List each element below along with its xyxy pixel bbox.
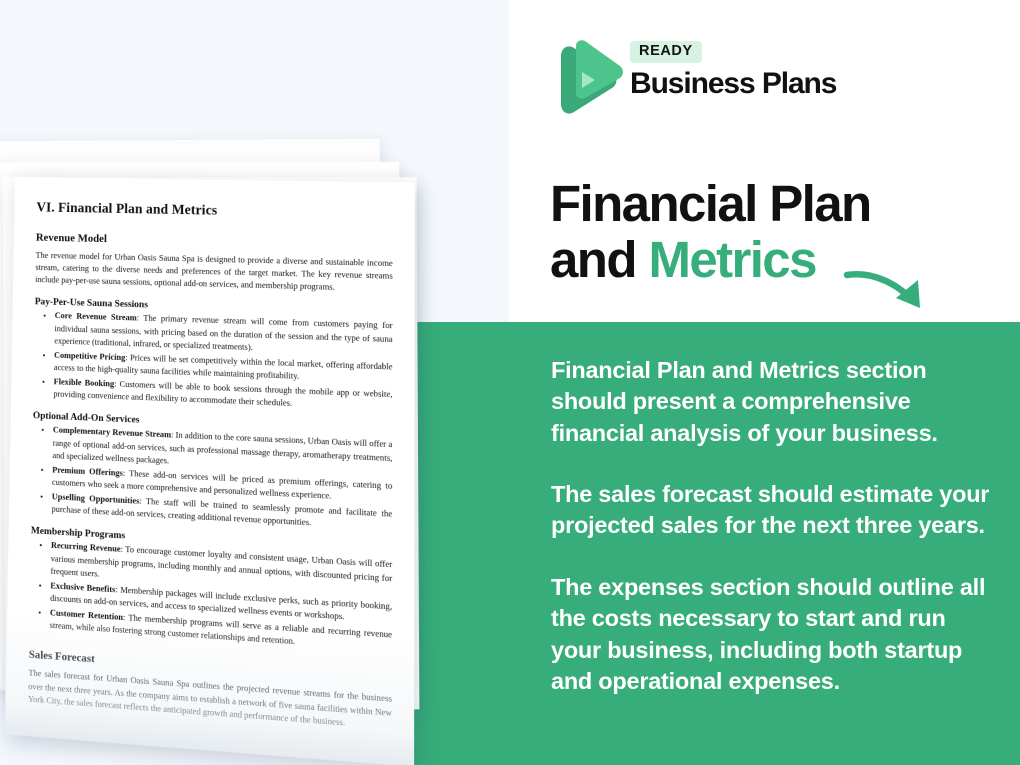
paragraph-revenue-model: The revenue model for Urban Oasis Sauna … — [35, 250, 393, 296]
heading-revenue-model: Revenue Model — [36, 233, 393, 252]
slide-canvas: V V Re The inc stre Pay Op M VI. Financi… — [0, 0, 1020, 765]
list-pay-per-use: Core Revenue Stream: The primary revenue… — [33, 310, 393, 415]
play-triangle-logo-icon — [549, 36, 625, 114]
ready-badge: READY — [630, 41, 702, 63]
title-line-2-plain: and — [550, 231, 648, 288]
copy-paragraph-1: Financial Plan and Metrics section shoul… — [551, 355, 1001, 449]
brand-logo[interactable]: READY Business Plans — [549, 36, 839, 114]
bullet-term: Flexible Booking — [54, 377, 115, 389]
document-page-stack: V V Re The inc stre Pay Op M VI. Financi… — [0, 120, 500, 740]
bullet-term: Upselling Opportunities — [52, 492, 140, 506]
document-sheet-front: VI. Financial Plan and Metrics Revenue M… — [5, 177, 415, 765]
bullet-term: Competitive Pricing — [54, 350, 125, 362]
body-copy: Financial Plan and Metrics section shoul… — [551, 355, 1001, 697]
page-title: Financial Plan and Metrics — [550, 176, 1010, 287]
bullet-term: Premium Offerings — [52, 465, 123, 478]
bullet-term: Exclusive Benefits — [50, 581, 115, 594]
title-line-1: Financial Plan — [550, 175, 871, 232]
document-content: VI. Financial Plan and Metrics Revenue M… — [28, 199, 393, 743]
curved-arrow-down-right-icon — [840, 258, 940, 320]
copy-paragraph-2: The sales forecast should estimate your … — [551, 479, 1001, 542]
list-optional-add-on: Complementary Revenue Stream: In additio… — [31, 424, 392, 535]
list-membership-programs: Recurring Revenue: To encourage customer… — [29, 539, 392, 656]
copy-paragraph-3: The expenses section should outline all … — [551, 572, 1001, 697]
bullet-term: Recurring Revenue — [51, 541, 121, 554]
bullet-term: Customer Retention — [50, 608, 123, 622]
title-line-2-accent: Metrics — [648, 231, 815, 288]
brand-name: Business Plans — [630, 68, 836, 100]
logo-text: READY Business Plans — [630, 41, 836, 99]
document-title: VI. Financial Plan and Metrics — [36, 199, 393, 222]
bullet-term: Core Revenue Stream — [55, 311, 137, 323]
